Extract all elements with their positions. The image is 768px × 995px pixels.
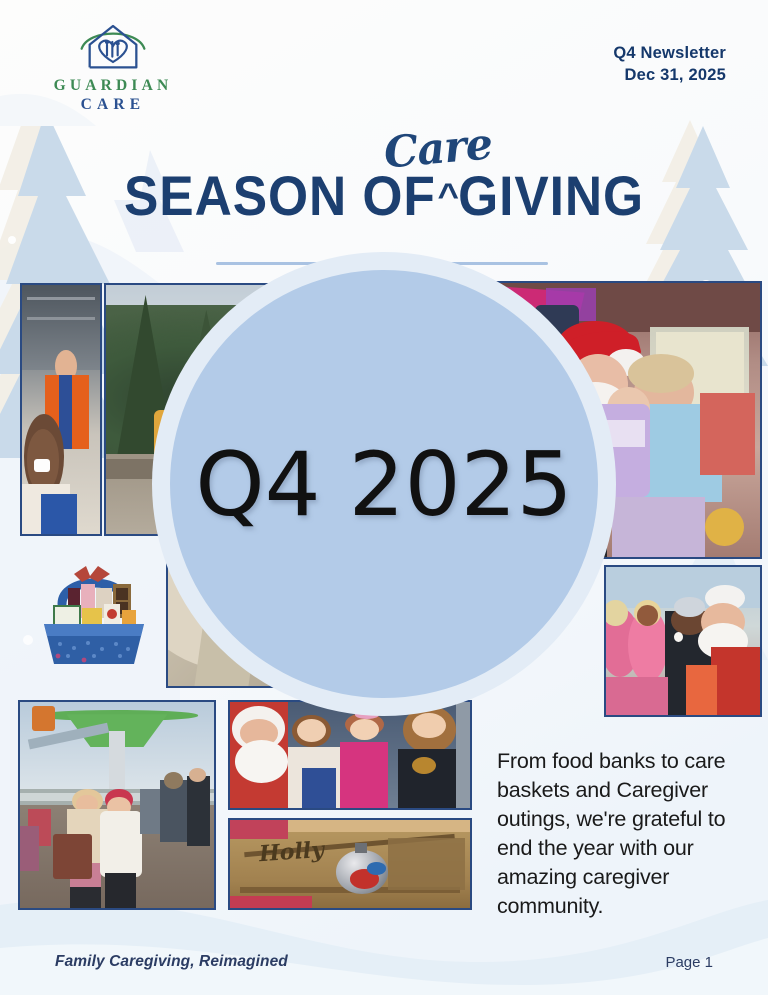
quarter-badge: Q4 2025 [170,270,598,698]
issue-info: Q4 Newsletter Dec 31, 2025 [613,42,726,87]
photo-holly-sleigh-bell: Holly [228,818,472,910]
issue-date: Dec 31, 2025 [613,64,726,86]
brand-logo: GUARDIAN CARE [28,18,198,118]
title-main-before: SEASON OF [124,164,436,227]
issue-label: Q4 Newsletter [613,42,726,64]
footer-page-number: Page 1 [665,954,713,971]
photo-fairground-outing [18,700,216,910]
title-main-after: GIVING [458,164,644,227]
engraving-text: Holly [258,837,325,867]
newsletter-cover-page: GUARDIAN CARE Q4 Newsletter Dec 31, 2025… [0,0,768,995]
title-caret-mark: ^ [438,179,460,213]
page-header: GUARDIAN CARE Q4 Newsletter Dec 31, 2025 [0,0,768,120]
footer-tagline: Family Caregiving, Reimagined [55,953,288,971]
page-title: SEASON OF^GIVING [31,168,738,224]
photo-santa-with-kids [228,700,472,810]
brand-name-line2: CARE [81,96,146,113]
brand-name-line1: GUARDIAN [54,77,173,94]
page-footer: Family Caregiving, Reimagined Page 1 [0,933,768,995]
photo-gift-basket [24,548,164,666]
intro-paragraph: From food banks to care baskets and Care… [497,747,747,921]
quarter-badge-label: Q4 2025 [195,433,572,536]
guardian-house-heart-icon [76,18,150,74]
cover-title: Care SEASON OF^GIVING [0,128,768,224]
photo-food-bank-volunteers [20,283,102,536]
photo-santa-children-pajamas [604,565,762,717]
